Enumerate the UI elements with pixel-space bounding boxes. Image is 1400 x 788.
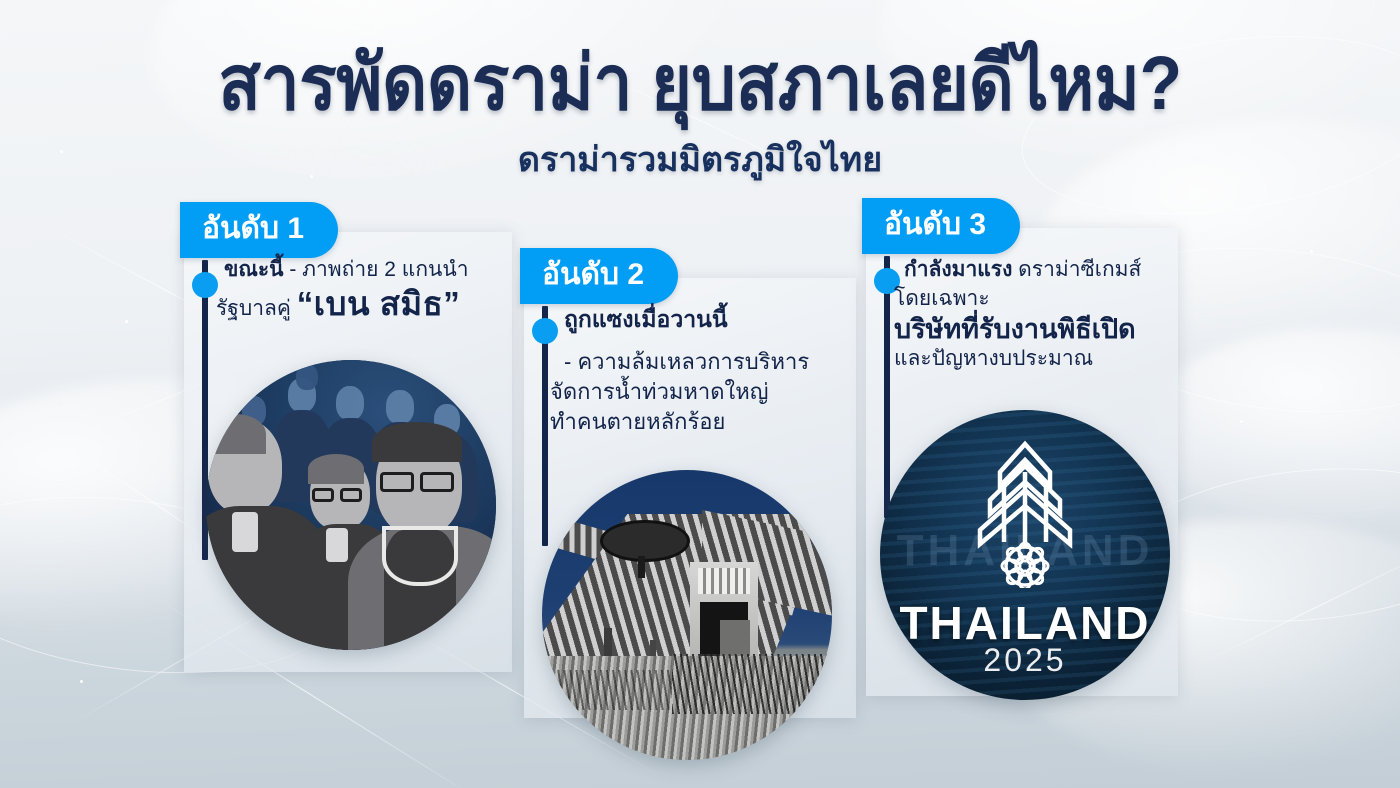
sea-games-year-label: 2025 xyxy=(880,642,1170,679)
bullet-dot-icon xyxy=(192,272,218,298)
news-graphic-stage: สารพัดดราม่า ยุบสภาเลยดีไหม? ดราม่ารวมมิ… xyxy=(0,0,1400,788)
card2-line2: - ความล้มเหลวการบริหาร xyxy=(564,349,860,375)
rank-badge-3: อันดับ 3 xyxy=(862,198,1020,254)
satellite-dish-icon xyxy=(600,520,690,562)
card-text-3: กำลังมาแรง ดราม่าซีเกมส์ โดยเฉพาะ บริษัท… xyxy=(904,258,1184,372)
page-title: สารพัดดราม่า ยุบสภาเลยดีไหม? xyxy=(56,46,1344,122)
background-line xyxy=(1195,534,1400,666)
rank-badge-1: อันดับ 1 xyxy=(180,202,338,258)
page-subtitle: ดราม่ารวมมิตรภูมิใจไทย xyxy=(0,132,1400,186)
background-dot xyxy=(80,680,83,683)
bullet-dot-icon xyxy=(532,318,558,344)
card3-line2: โดยเฉพาะ xyxy=(894,287,1184,312)
rank-card-3[interactable]: อันดับ 3 กำลังมาแรง ดราม่าซีเกมส์ โดยเฉพ… xyxy=(862,198,1180,698)
card2-line4: ทำคนตายหลักร้อย xyxy=(550,409,860,435)
card3-line3: บริษัทที่รับงานพิธีเปิด xyxy=(894,314,1184,346)
card3-line4: และปัญหางบประมาณ xyxy=(894,347,1184,372)
background-dot xyxy=(1310,250,1313,253)
rank-badge-2: อันดับ 2 xyxy=(520,248,678,304)
card1-line2a: รัฐบาลคู่ xyxy=(216,297,297,320)
card-text-1: ขณะนี้ - ภาพถ่าย 2 แกนนำ รัฐบาลคู่ “เบน … xyxy=(224,258,514,324)
flooded-house-photo xyxy=(542,470,832,760)
card1-line1b: - ภาพถ่าย 2 แกนนำ xyxy=(289,258,468,281)
card2-line1: ถูกแซงเมื่อวานนี้ xyxy=(564,306,860,333)
card1-line2b: “เบน สมิธ” xyxy=(297,285,461,322)
background-dot xyxy=(1240,420,1243,423)
headline-block: สารพัดดราม่า ยุบสภาเลยดีไหม? ดราม่ารวมมิ… xyxy=(0,46,1400,186)
sea-games-logo-photo: THAILAND xyxy=(880,410,1170,700)
rank-card-2[interactable]: อันดับ 2 ถูกแซงเมื่อวานนี้ - ความล้มเหลว… xyxy=(520,248,860,718)
card2-line3: จัดการน้ำท่วมหาดใหญ่ xyxy=(550,379,860,405)
card-text-2: ถูกแซงเมื่อวานนี้ - ความล้มเหลวการบริหาร… xyxy=(564,306,860,435)
rank-card-1[interactable]: อันดับ 1 ขณะนี้ - ภาพถ่าย 2 แกนนำ รัฐบาล… xyxy=(180,202,515,672)
card1-line1a: ขณะนี้ xyxy=(224,258,289,281)
sea-games-emblem-icon xyxy=(880,438,1170,593)
card3-line1b: ดราม่าซีเกมส์ xyxy=(1018,258,1141,281)
two-leaders-photo xyxy=(206,360,496,650)
card3-line1a: กำลังมาแรง xyxy=(904,258,1018,281)
background-dot xyxy=(125,320,128,323)
